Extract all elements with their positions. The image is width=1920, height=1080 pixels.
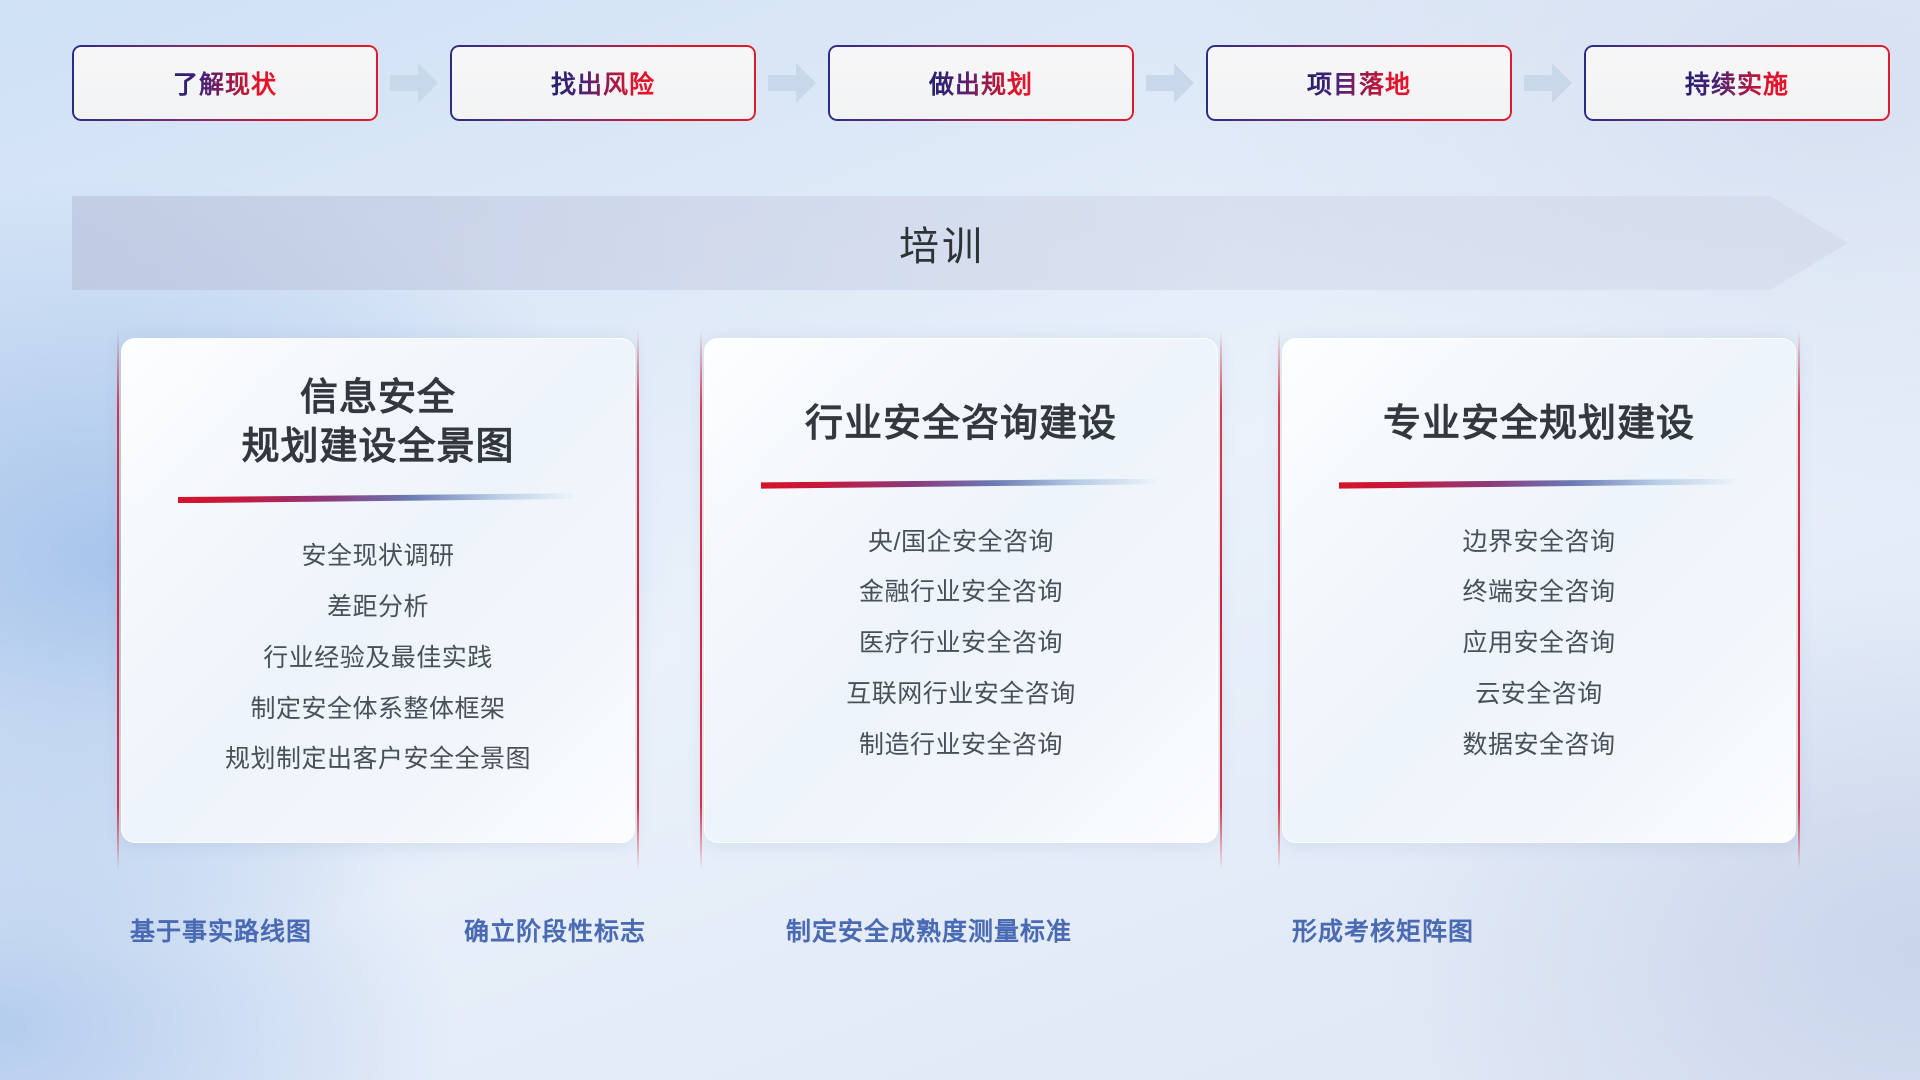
- list-item: 差距分析: [327, 588, 429, 627]
- list-item: 终端安全咨询: [1462, 573, 1615, 612]
- list-item: 边界安全咨询: [1462, 523, 1615, 562]
- card-1[interactable]: 信息安全 规划建设全景图 安全现状调研 差距分析 行业经验及最佳实践 制定安全体…: [121, 338, 635, 843]
- list-item: 医疗行业安全咨询: [859, 624, 1063, 663]
- list-item: 应用安全咨询: [1462, 624, 1615, 663]
- step-4[interactable]: 项目落地: [1206, 45, 1512, 121]
- bottom-label-row: 基于事实路线图 确立阶段性标志 制定安全成熟度测量标准 形成考核矩阵图: [0, 912, 1920, 972]
- card-2-title: 行业安全咨询建设: [805, 400, 1117, 449]
- step-3-label: 做出规划: [929, 65, 1033, 101]
- list-item: 制定安全体系整体框架: [250, 690, 505, 729]
- list-item: 安全现状调研: [301, 537, 454, 576]
- bottom-label-4: 形成考核矩阵图: [1292, 912, 1474, 948]
- step-1[interactable]: 了解现状: [72, 45, 378, 121]
- card-2[interactable]: 行业安全咨询建设 央/国企安全咨询 金融行业安全咨询 医疗行业安全咨询 互联网行…: [704, 338, 1218, 843]
- list-item: 数据安全咨询: [1462, 726, 1615, 765]
- card-row: 信息安全 规划建设全景图 安全现状调研 差距分析 行业经验及最佳实践 制定安全体…: [0, 330, 1920, 870]
- process-step-row: 了解现状 找出风险 做出规划 项目落地 持续实施: [0, 0, 1920, 165]
- card-3-wrapper: 专业安全规划建设 边界安全咨询 终端安全咨询 应用安全咨询 云安全咨询 数据安全…: [1274, 330, 1804, 870]
- card-2-wrapper: 行业安全咨询建设 央/国企安全咨询 金融行业安全咨询 医疗行业安全咨询 互联网行…: [696, 330, 1226, 870]
- list-item: 金融行业安全咨询: [859, 573, 1063, 612]
- card-3-title: 专业安全规划建设: [1383, 400, 1695, 449]
- step-1-label: 了解现状: [173, 65, 277, 101]
- list-item: 央/国企安全咨询: [868, 523, 1054, 562]
- bottom-label-2: 确立阶段性标志: [464, 912, 646, 948]
- card-2-divider: [761, 479, 1161, 489]
- step-2-label: 找出风险: [551, 65, 655, 101]
- step-3[interactable]: 做出规划: [828, 45, 1134, 121]
- list-item: 行业经验及最佳实践: [263, 639, 493, 678]
- card-1-wrapper: 信息安全 规划建设全景图 安全现状调研 差距分析 行业经验及最佳实践 制定安全体…: [113, 330, 643, 870]
- card-3-accent-left: [1278, 330, 1280, 870]
- banner-title: 培训: [72, 196, 1848, 290]
- arrow-right-icon: [766, 60, 818, 106]
- card-1-divider: [178, 493, 578, 503]
- slide-root: { "steps": { "items": [ { "label": "了解现状…: [0, 0, 1920, 1080]
- step-5-label: 持续实施: [1685, 65, 1789, 101]
- card-1-accent-left: [117, 330, 119, 870]
- card-3-accent-right: [1798, 330, 1800, 870]
- card-3-item-list: 边界安全咨询 终端安全咨询 应用安全咨询 云安全咨询 数据安全咨询: [1282, 523, 1796, 765]
- step-4-label: 项目落地: [1307, 65, 1411, 101]
- card-1-item-list: 安全现状调研 差距分析 行业经验及最佳实践 制定安全体系整体框架 规划制定出客户…: [121, 537, 635, 779]
- list-item: 规划制定出客户安全全景图: [225, 740, 531, 779]
- card-3-divider: [1339, 479, 1739, 489]
- card-3[interactable]: 专业安全规划建设 边界安全咨询 终端安全咨询 应用安全咨询 云安全咨询 数据安全…: [1282, 338, 1796, 843]
- list-item: 互联网行业安全咨询: [846, 675, 1076, 714]
- arrow-right-icon: [1522, 60, 1574, 106]
- card-2-accent-right: [1220, 330, 1222, 870]
- list-item: 云安全咨询: [1475, 675, 1603, 714]
- step-5[interactable]: 持续实施: [1584, 45, 1890, 121]
- card-2-item-list: 央/国企安全咨询 金融行业安全咨询 医疗行业安全咨询 互联网行业安全咨询 制造行…: [704, 523, 1218, 765]
- card-1-accent-right: [637, 330, 639, 870]
- step-2[interactable]: 找出风险: [450, 45, 756, 121]
- list-item: 制造行业安全咨询: [859, 726, 1063, 765]
- arrow-right-icon: [1144, 60, 1196, 106]
- bottom-label-3: 制定安全成熟度测量标准: [786, 912, 1072, 948]
- card-2-accent-left: [700, 330, 702, 870]
- card-1-title: 信息安全 规划建设全景图: [241, 374, 514, 471]
- training-banner: 培训: [72, 196, 1848, 290]
- bottom-label-1: 基于事实路线图: [130, 912, 312, 948]
- arrow-right-icon: [388, 60, 440, 106]
